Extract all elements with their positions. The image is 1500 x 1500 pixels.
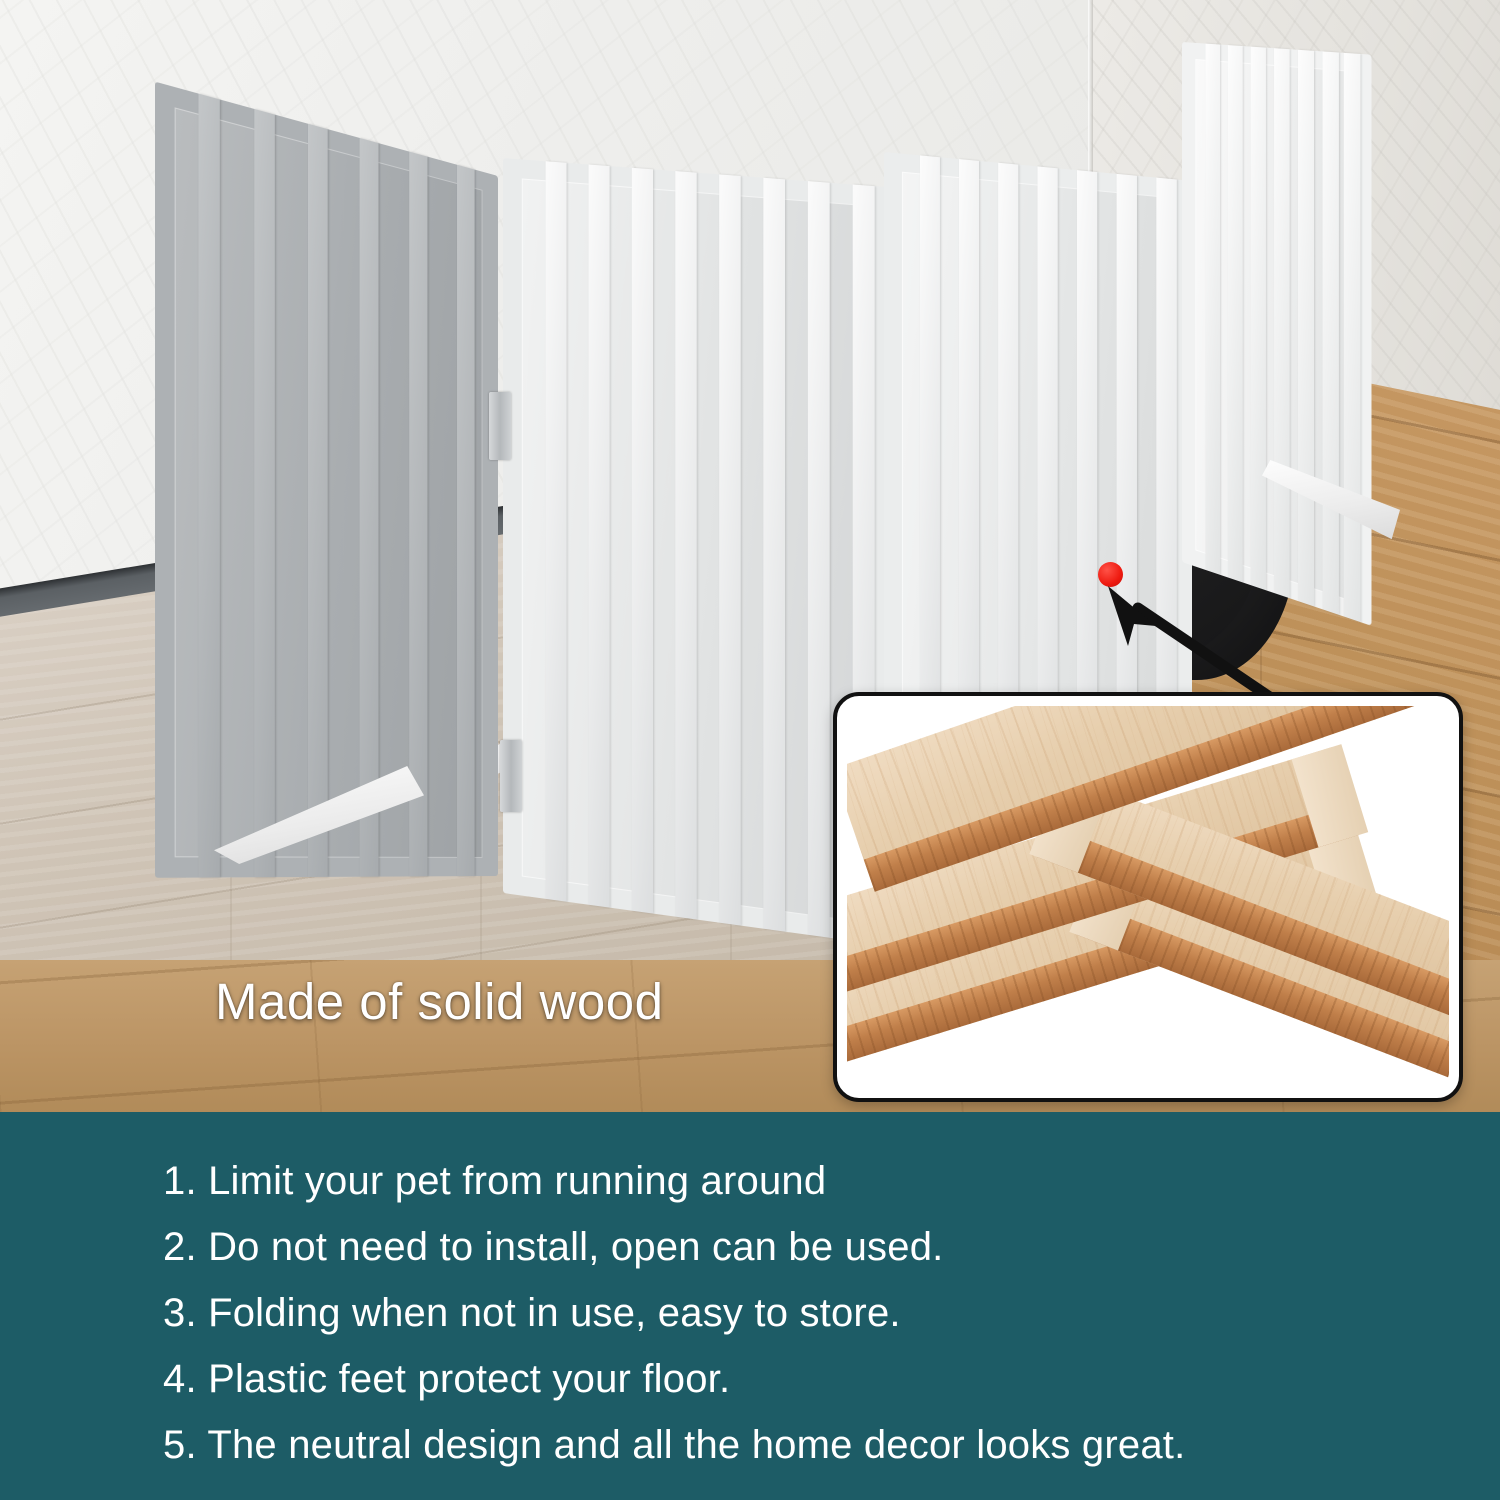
feature-item: 2. Do not need to install, open can be u… xyxy=(163,1214,1500,1280)
panel-slat xyxy=(409,152,427,877)
panel-slat xyxy=(308,124,328,877)
panel-slat xyxy=(254,109,274,877)
panel-slat xyxy=(198,94,219,878)
product-photo: Made of solid wood xyxy=(0,0,1500,1112)
feature-item: 3. Folding when not in use, easy to stor… xyxy=(163,1280,1500,1346)
panel-hinge xyxy=(500,740,522,812)
panel-slat xyxy=(360,138,379,877)
panel-slat xyxy=(808,181,830,938)
panel-slat xyxy=(1274,48,1290,598)
feature-list-panel: 1. Limit your pet from running around 2.… xyxy=(0,1112,1500,1500)
panel-slat xyxy=(675,171,696,919)
panel-slat xyxy=(1344,53,1361,622)
wood-sample-inset xyxy=(833,692,1463,1102)
wood-sample-photo xyxy=(847,706,1449,1088)
panel-slat xyxy=(632,168,653,914)
panel-slat xyxy=(1251,47,1266,591)
panel-slat xyxy=(719,174,741,925)
panel-slat xyxy=(1228,45,1243,582)
panel-slat xyxy=(1323,51,1339,614)
panel-slat xyxy=(546,161,567,901)
gate-panel-1[interactable] xyxy=(155,82,498,878)
feature-item: 4. Plastic feet protect your floor. xyxy=(163,1346,1500,1412)
product-infographic: Made of solid wood xyxy=(0,0,1500,1500)
feature-item: 1. Limit your pet from running around xyxy=(163,1148,1500,1214)
panel-slat xyxy=(1205,44,1220,575)
feature-item: 5. The neutral design and all the home d… xyxy=(163,1412,1500,1478)
panel-slat xyxy=(1298,50,1314,607)
gate-panel-4[interactable] xyxy=(1182,42,1371,626)
panel-slat xyxy=(457,165,475,876)
feature-list: 1. Limit your pet from running around 2.… xyxy=(0,1112,1500,1478)
solid-wood-caption: Made of solid wood xyxy=(215,972,663,1031)
panel-hinge xyxy=(489,392,511,460)
panel-slat xyxy=(589,164,610,907)
panel-slat xyxy=(763,178,785,932)
